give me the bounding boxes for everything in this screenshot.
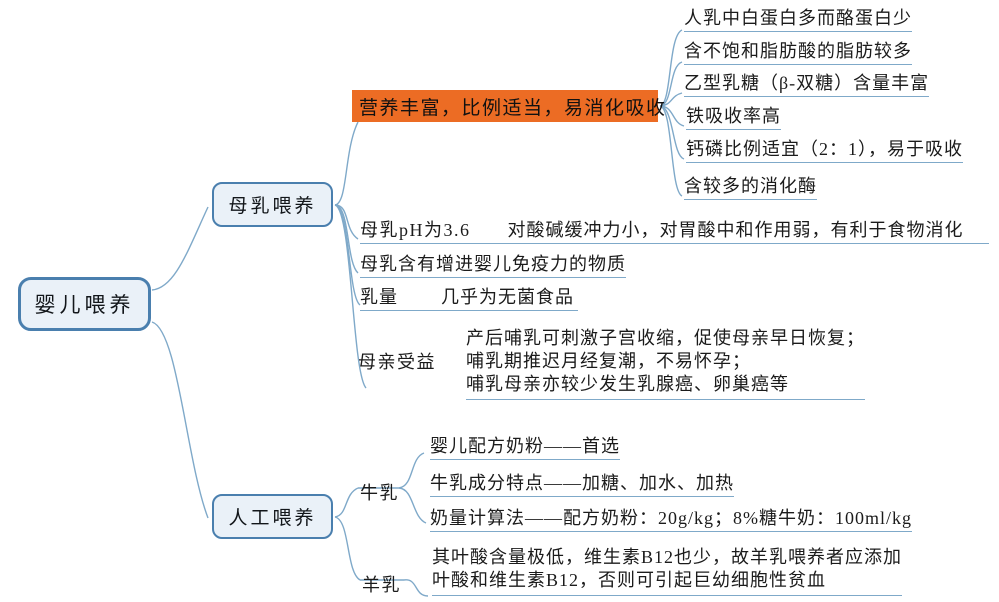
highlight-box-nutrition[interactable]: 营养丰富，比例适当，易消化吸收	[352, 90, 658, 122]
leaf-nutrition-5: 钙磷比例适宜（2：1），易于吸收	[686, 139, 963, 163]
leaf-goat-milk-tag: 羊乳	[362, 571, 401, 597]
leaf-cow-milk-tag: 牛乳	[360, 479, 399, 505]
leaf-cow-milk-2: 牛乳成分特点——加糖、加水、加热	[430, 473, 734, 497]
leaf-ph-row: 母乳pH为3.6 对酸碱缓冲力小，对胃酸中和作用弱，有利于食物消化	[360, 220, 989, 244]
leaf-ph-tag: 母乳pH为3.6	[360, 220, 471, 240]
leaf-volume-detail: 几乎为无菌食品	[441, 287, 574, 307]
leaf-immunity: 母乳含有增进婴儿免疫力的物质	[360, 254, 626, 278]
leaf-nutrition-3: 乙型乳糖（β-双糖）含量丰富	[684, 73, 929, 97]
leaf-volume-row: 乳量 几乎为无菌食品	[360, 287, 578, 311]
branch-node-artificial-label: 人工喂养	[228, 503, 316, 530]
root-node-label: 婴儿喂养	[35, 289, 135, 319]
leaf-mother-benefit-tag: 母亲受益	[358, 348, 436, 374]
leaf-ph-detail: 对酸碱缓冲力小，对胃酸中和作用弱，有利于食物消化	[508, 220, 964, 240]
branch-node-artificial-feeding[interactable]: 人工喂养	[212, 494, 333, 539]
leaf-cow-milk-1: 婴儿配方奶粉——首选	[430, 436, 620, 460]
mindmap-canvas: 婴儿喂养 母乳喂养 人工喂养 营养丰富，比例适当，易消化吸收 人乳中白蛋白多而酪…	[0, 0, 999, 602]
branch-node-breast-label: 母乳喂养	[228, 191, 316, 218]
leaf-mother-benefit-detail: 产后哺乳可刺激子宫收缩，促使母亲早日恢复； 哺乳期推迟月经复潮，不易怀孕； 哺乳…	[466, 327, 865, 400]
leaf-goat-milk-detail: 其叶酸含量极低，维生素B12也少，故羊乳喂养者应添加 叶酸和维生素B12，否则可…	[432, 546, 902, 596]
leaf-nutrition-6: 含较多的消化酶	[684, 176, 817, 200]
leaf-nutrition-4: 铁吸收率高	[686, 106, 781, 130]
leaf-cow-milk-3: 奶量计算法——配方奶粉：20g/kg；8%糖牛奶：100ml/kg	[430, 508, 912, 532]
root-node-infant-feeding[interactable]: 婴儿喂养	[18, 277, 151, 331]
leaf-nutrition-2: 含不饱和脂肪酸的脂肪较多	[684, 41, 912, 65]
branch-node-breast-feeding[interactable]: 母乳喂养	[212, 182, 333, 227]
leaf-nutrition-1: 人乳中白蛋白多而酪蛋白少	[684, 8, 912, 32]
leaf-volume-tag: 乳量	[360, 287, 398, 307]
highlight-box-label: 营养丰富，比例适当，易消化吸收	[359, 93, 667, 120]
